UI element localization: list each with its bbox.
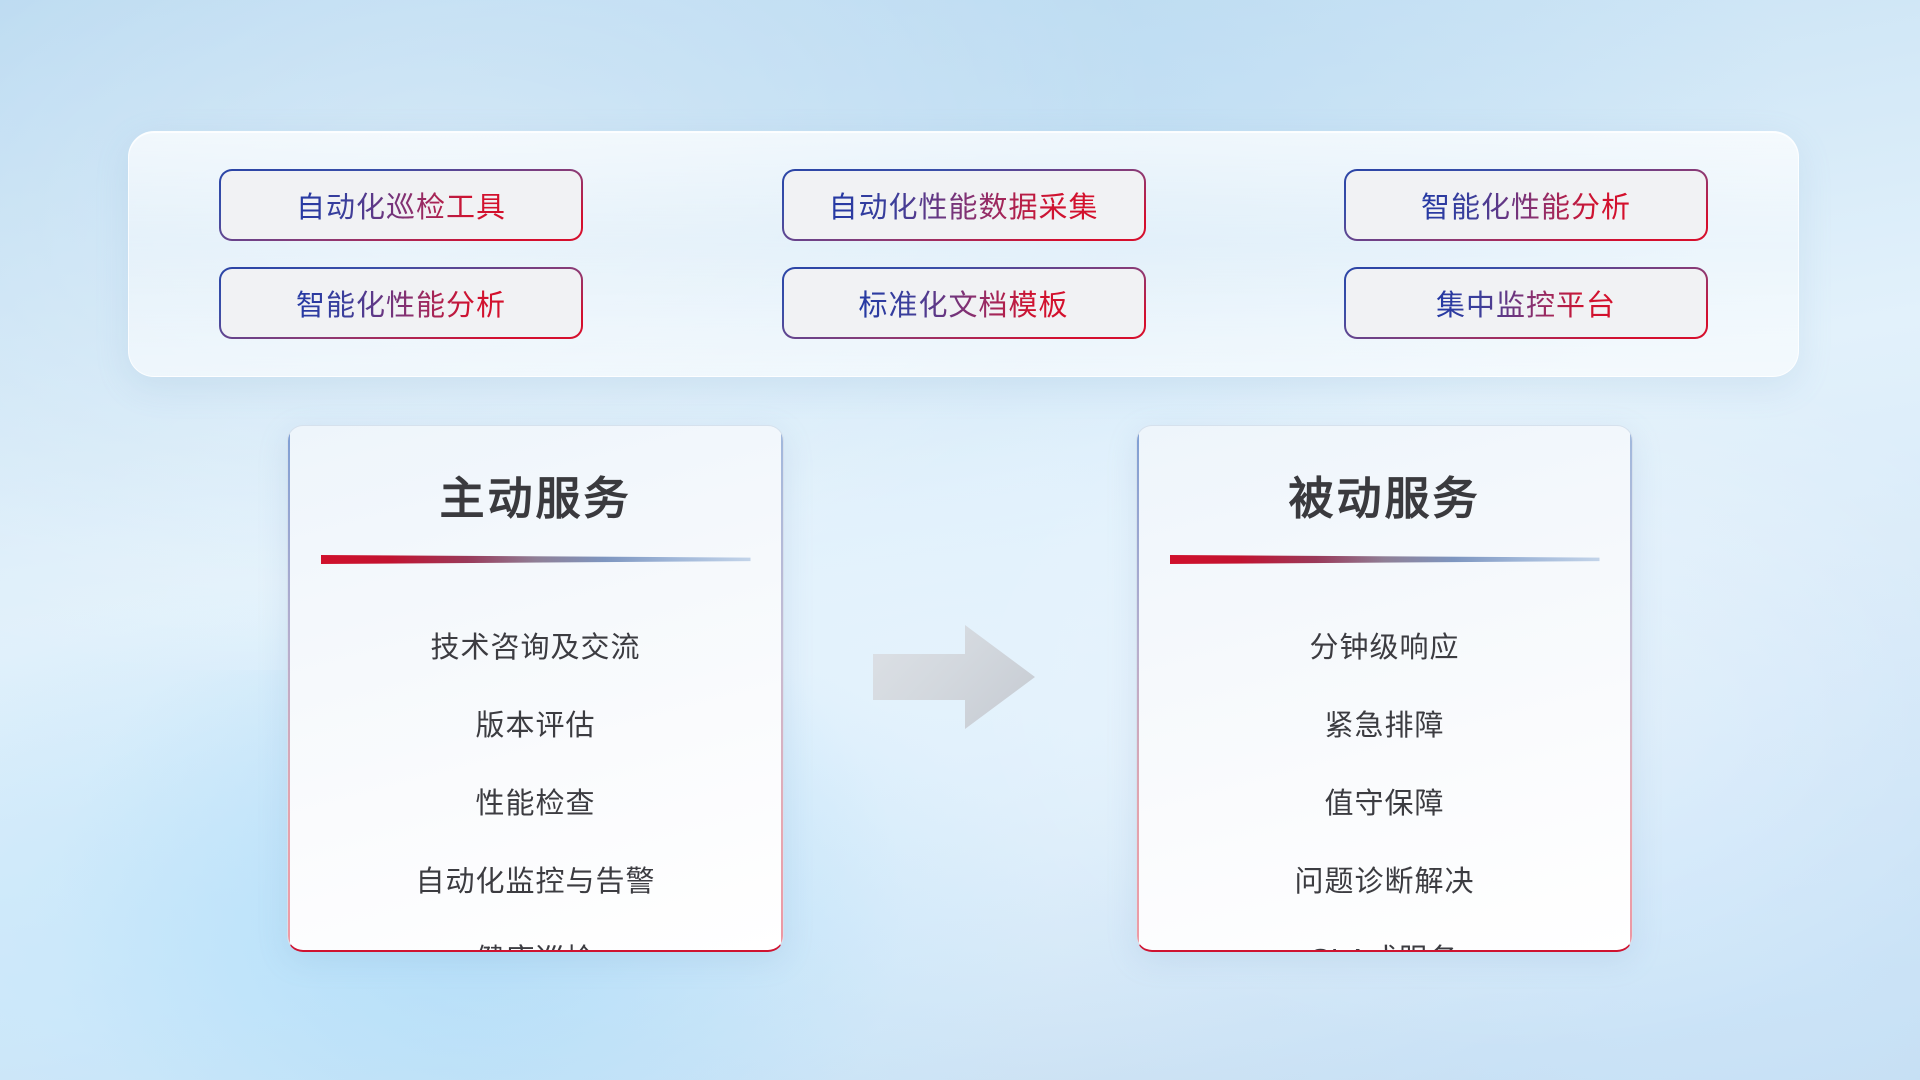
service-card-reactive: 被动服务 分钟级响应 紧急排障 值守保障 问题诊断解决 SLA式服务 — [1136, 425, 1633, 952]
service-list-reactive: 分钟级响应 紧急排障 值守保障 问题诊断解决 SLA式服务 — [1167, 606, 1602, 952]
capability-pill-label: 自动化巡检工具 — [296, 184, 506, 226]
card-divider-reactive — [1170, 553, 1600, 564]
list-item: 紧急排障 — [1167, 684, 1602, 762]
service-card-proactive: 主动服务 技术咨询及交流 版本评估 性能检查 自动化监控与告警 健康巡检 — [287, 425, 784, 952]
capability-pill-label: 智能化性能分析 — [296, 282, 506, 324]
list-item: 值守保障 — [1167, 762, 1602, 840]
capability-pill-automated-inspection-tool[interactable]: 自动化巡检工具 — [221, 171, 581, 239]
capability-pill-intelligent-performance-analysis-b[interactable]: 智能化性能分析 — [221, 269, 581, 337]
capabilities-row-1: 自动化巡检工具 自动化性能数据采集 智能化性能分析 — [221, 171, 1706, 239]
service-list-proactive: 技术咨询及交流 版本评估 性能检查 自动化监控与告警 健康巡检 — [318, 606, 753, 952]
list-item: 自动化监控与告警 — [318, 840, 753, 918]
capabilities-panel: 自动化巡检工具 自动化性能数据采集 智能化性能分析 智能化性能分析 标准化文档模… — [128, 131, 1799, 377]
list-item: SLA式服务 — [1167, 918, 1602, 952]
card-divider-proactive — [321, 553, 751, 564]
capability-pill-automated-performance-data-collection[interactable]: 自动化性能数据采集 — [784, 171, 1144, 239]
list-item: 健康巡检 — [318, 918, 753, 952]
list-item: 技术咨询及交流 — [318, 606, 753, 684]
list-item: 性能检查 — [318, 762, 753, 840]
list-item: 分钟级响应 — [1167, 606, 1602, 684]
capabilities-row-2: 智能化性能分析 标准化文档模板 集中监控平台 — [221, 269, 1706, 337]
divider-gradient-bar — [321, 553, 751, 564]
capability-pill-label: 标准化文档模板 — [858, 282, 1068, 324]
card-title-proactive: 主动服务 — [318, 462, 753, 527]
list-item: 版本评估 — [318, 684, 753, 762]
capability-pill-standardized-document-template[interactable]: 标准化文档模板 — [784, 269, 1144, 337]
capability-pill-label: 自动化性能数据采集 — [828, 184, 1098, 226]
card-title-reactive: 被动服务 — [1167, 462, 1602, 527]
list-item: 问题诊断解决 — [1167, 840, 1602, 918]
capability-pill-centralized-monitoring-platform[interactable]: 集中监控平台 — [1346, 269, 1706, 337]
capability-pill-intelligent-performance-analysis-a[interactable]: 智能化性能分析 — [1346, 171, 1706, 239]
capability-pill-label: 智能化性能分析 — [1421, 184, 1631, 226]
capability-pill-label: 集中监控平台 — [1436, 282, 1616, 324]
divider-gradient-bar — [1170, 553, 1600, 564]
right-arrow-icon — [873, 621, 1035, 733]
